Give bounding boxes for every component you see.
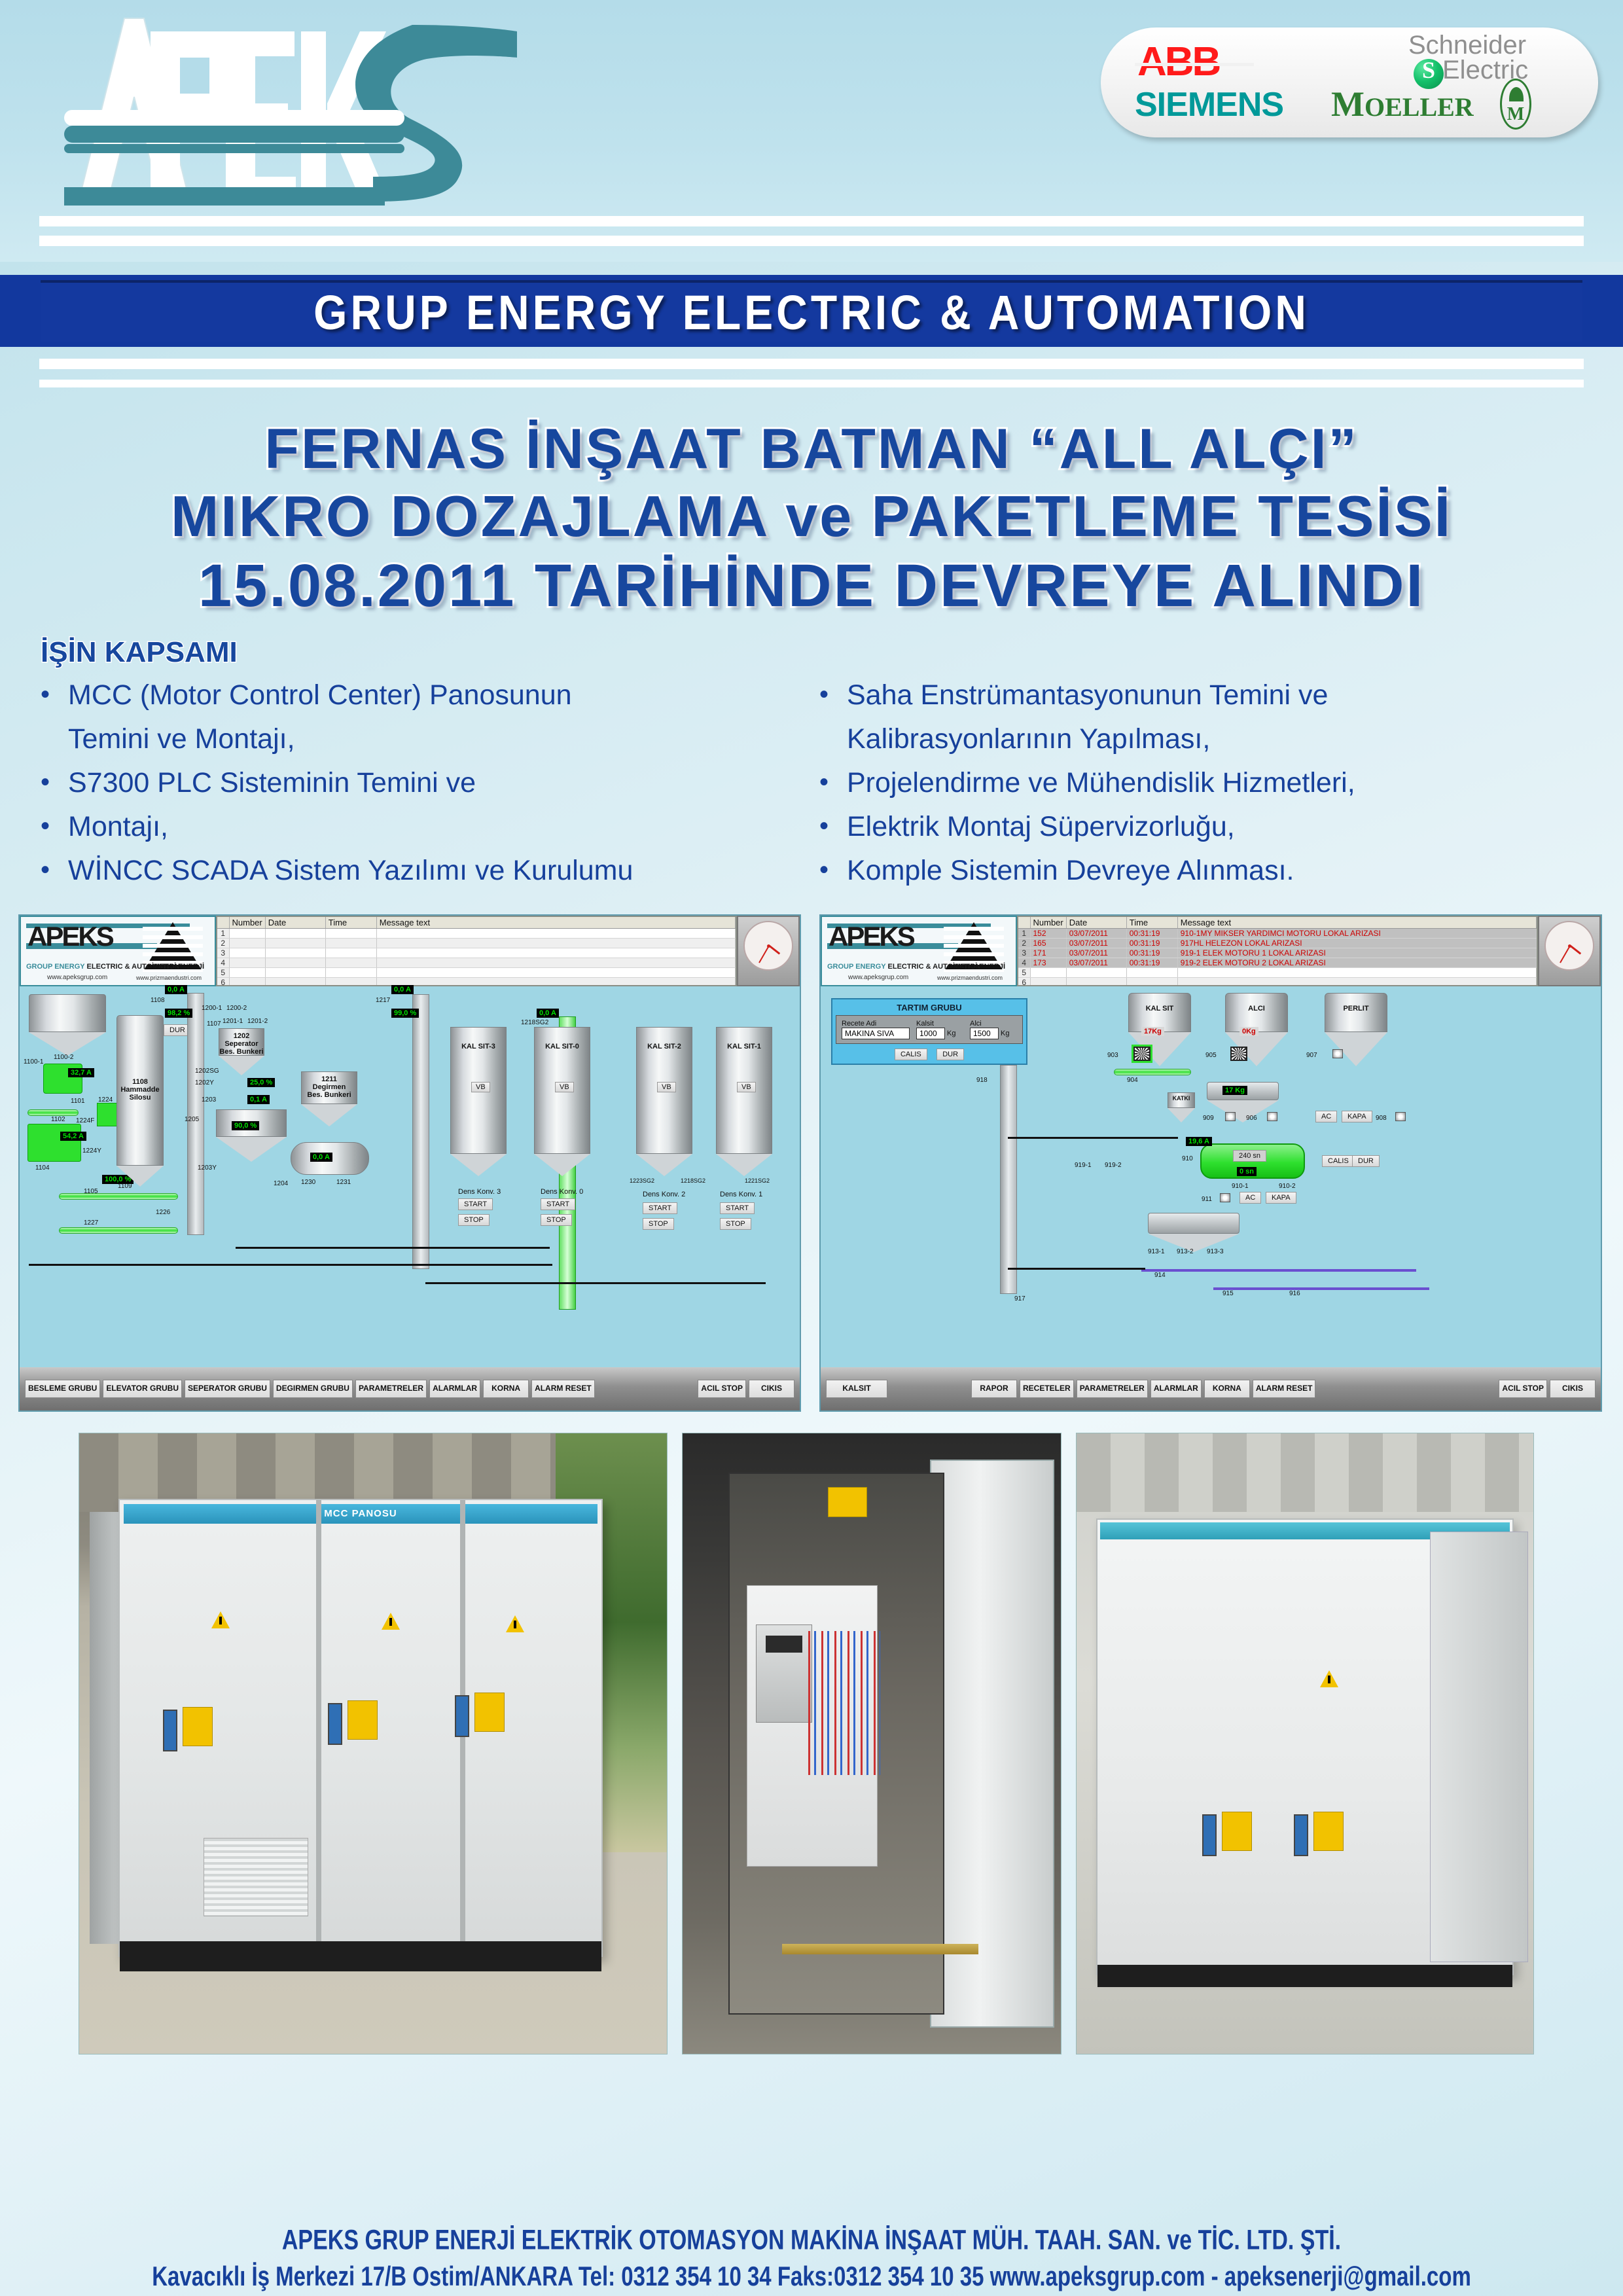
row-index: 3: [1018, 948, 1030, 958]
stop-button-1[interactable]: STOP: [720, 1218, 751, 1230]
scada1-partner-url: www.prizmaendustri.com: [136, 975, 202, 981]
elevator-1214: [412, 994, 429, 1269]
tag-1218SG2: 1218SG2: [681, 1177, 705, 1184]
tag-917: 917: [1014, 1295, 1026, 1302]
warning-label: [348, 1700, 378, 1740]
clock-face: [743, 921, 793, 971]
title-line-2: MIKRO DOZAJLAMA ve PAKETLEME TESİSİ: [0, 482, 1623, 550]
bullet-icon: •: [41, 807, 68, 845]
cell-message: [376, 948, 735, 958]
moeller-logo-rest: OELLER: [1364, 92, 1474, 122]
routing-line: [1008, 1137, 1178, 1139]
row-index: 4: [217, 958, 229, 968]
silo-1108-label: 1108 Hammadde Silosu: [116, 1078, 164, 1102]
bullet-icon: •: [819, 763, 847, 801]
lcd-1108-a: 0,0 A: [165, 985, 187, 994]
cell-message: 917HL HELEZON LOKAL ARIZASI: [1177, 939, 1536, 948]
cell-number: [1030, 978, 1066, 987]
scada2-wordmark: APEKS: [829, 921, 914, 952]
lcd-1214-a: 0,0 A: [391, 985, 414, 994]
door-handle: [1202, 1814, 1217, 1856]
dens-konv-0-label: Dens Konv. 0: [541, 1188, 583, 1196]
row-index: 2: [1018, 939, 1030, 948]
mill-1211-label: 1211 Degirmen Bes. Bunkeri: [301, 1075, 357, 1099]
abb-logo: ABB: [1137, 42, 1219, 82]
cell-date: 03/07/2011: [1066, 939, 1126, 948]
ac-button-top[interactable]: AC: [1315, 1111, 1337, 1122]
screw-conveyor-904: [1114, 1069, 1191, 1075]
recipe-dur-button[interactable]: DUR: [936, 1049, 964, 1060]
silo-katki-cone: [1168, 1108, 1195, 1122]
tag-904: 904: [1127, 1077, 1138, 1084]
button-acil-stop[interactable]: ACIL STOP: [1499, 1380, 1547, 1398]
silo-katki-label: KATKI: [1168, 1095, 1195, 1102]
cabinet-plinth: [1097, 1965, 1512, 1987]
cell-date: [265, 948, 325, 958]
cell-date: [265, 939, 325, 948]
silo-alci-label: ALCI: [1225, 1005, 1288, 1013]
lcd-1214-b: 99,0 %: [391, 1009, 419, 1018]
silo-1108-line2: Hammadde: [120, 1086, 159, 1094]
button-parametreler[interactable]: PARAMETRELER: [355, 1380, 427, 1398]
alarm-col-time: Time: [1126, 917, 1177, 929]
list-item-label: WİNCC SCADA Sistem Yazılımı ve Kurulumu: [68, 851, 806, 891]
header-stripes: [39, 216, 1584, 255]
scada2-toolbar[interactable]: KALSIT RAPOR RECETELER PARAMETRELER ALAR…: [821, 1367, 1601, 1410]
conveyor-1227: [59, 1227, 178, 1234]
recipe-panel[interactable]: TARTIM GRUBU Recete Adi Kalsit Kg: [831, 998, 1027, 1065]
tag-1217: 1218SG2: [521, 1019, 548, 1026]
cell-time: 00:31:19: [1126, 939, 1177, 948]
cell-number: 173: [1030, 958, 1066, 968]
cell-number: [229, 978, 265, 987]
cell-time: 00:31:19: [1126, 958, 1177, 968]
lcd-1217-a: 0,0 A: [537, 1009, 559, 1018]
button-kalsit[interactable]: KALSIT: [826, 1380, 887, 1398]
list-item: Temini ve Montajı,: [41, 719, 806, 759]
table-row[interactable]: 1: [217, 929, 736, 939]
silo-1108-line3: Silosu: [129, 1094, 151, 1102]
cell-message: [1177, 968, 1536, 978]
dens-konv-1-label: Dens Konv. 1: [720, 1191, 762, 1198]
warning-label: [474, 1693, 505, 1732]
list-item: •Montajı,: [41, 807, 806, 847]
valve-911: [1220, 1193, 1230, 1202]
cell-time: [325, 929, 376, 939]
dens-konv-3-label: Dens Konv. 3: [458, 1188, 501, 1196]
table-row[interactable]: 5: [1018, 968, 1537, 978]
cell-date: [265, 958, 325, 968]
table-row[interactable]: 5: [217, 968, 736, 978]
table-row[interactable]: 3: [217, 948, 736, 958]
list-item: •MCC (Motor Control Center) Panosunun: [41, 675, 806, 715]
feed-hopper: [29, 994, 106, 1032]
scada2-clock-icon: [1538, 916, 1601, 986]
button-elevator-grubu[interactable]: ELEVATOR GRUBU: [103, 1380, 182, 1398]
recipe-name-input[interactable]: [842, 1028, 910, 1039]
button-korna[interactable]: KORNA: [1204, 1380, 1250, 1398]
kapa-button-top[interactable]: KAPA: [1342, 1111, 1372, 1122]
button-cikis[interactable]: CIKIS: [1550, 1380, 1596, 1398]
ventilation-grille: [204, 1838, 308, 1916]
scada1-logo: APEKS GROUP ENERGY ELECTRIC & AUTOMATION…: [20, 916, 216, 986]
sep-1202-line3: Bes. Bunkeri: [219, 1048, 263, 1056]
photo-mcc-panel-outdoor: MCC PANOSU: [79, 1433, 668, 2054]
tag-908: 908: [1376, 1115, 1387, 1122]
silo-kalsit-3-label: KAL SIT-3: [450, 1043, 507, 1050]
packing-line-914: [1141, 1269, 1416, 1272]
tag-916: 916: [1289, 1290, 1300, 1297]
tag-915: 915: [1222, 1290, 1234, 1297]
bullet-icon: •: [819, 851, 847, 889]
tag-1227: 1227: [84, 1219, 98, 1227]
tag-1230: 1230: [301, 1179, 315, 1186]
tag-913-2: 913-2: [1177, 1248, 1194, 1255]
row-index: 5: [1018, 968, 1030, 978]
warning-triangle-icon: [506, 1615, 524, 1632]
routing-line: [236, 1247, 550, 1249]
list-item-label: MCC (Motor Control Center) Panosunun: [68, 675, 806, 715]
stop-button-0[interactable]: STOP: [541, 1214, 572, 1226]
recipe-name-label: Recete Adi: [842, 1020, 910, 1028]
tag-1108: 1108: [151, 997, 165, 1004]
cell-time: [325, 968, 376, 978]
tag-1223SG2: 1223SG2: [630, 1177, 654, 1184]
tag-918: 918: [976, 1077, 988, 1084]
mill-1211-line3: Bes. Bunkeri: [307, 1091, 351, 1099]
tag-914: 914: [1154, 1272, 1166, 1279]
row-index: 5: [217, 968, 229, 978]
scada1-alarm-table[interactable]: Number Date Time Message text 1 2 3 4 5 …: [216, 916, 737, 986]
silo-kalsit-1-cone: [716, 1154, 772, 1176]
cell-date: 03/07/2011: [1066, 948, 1126, 958]
banner-title: GRUP ENERGY ELECTRIC & AUTOMATION: [313, 284, 1310, 340]
table-row[interactable]: 4: [217, 958, 736, 968]
tag-1100-2: 1100-2: [54, 1054, 73, 1061]
scope-column-left: •MCC (Motor Control Center) Panosunun Te…: [41, 675, 806, 895]
scada2-header: APEKS GROUP ENERGY ELECTRIC & AUTOMATION…: [821, 916, 1601, 986]
rotary-valve-905: [1230, 1047, 1247, 1061]
siemens-logo: SIEMENS: [1135, 88, 1283, 122]
vb-button-2[interactable]: VB: [657, 1082, 676, 1092]
button-acil-stop[interactable]: ACIL STOP: [698, 1380, 746, 1398]
table-row[interactable]: 216503/07/201100:31:19917HL HELEZON LOKA…: [1018, 939, 1537, 948]
stripe: [39, 380, 1584, 387]
door-handle: [455, 1695, 469, 1737]
list-item-label: Kalibrasyonlarının Yapılması,: [847, 719, 1572, 759]
cell-message: 910-1MY MIKSER YARDIMCI MOTORU LOKAL ARI…: [1177, 929, 1536, 939]
button-alarm-reset[interactable]: ALARM RESET: [531, 1380, 595, 1398]
silo-kalsit-label: KAL SIT: [1128, 1005, 1191, 1013]
scada1-clock-icon: [737, 916, 800, 986]
scope-section: İŞİN KAPSAMI •MCC (Motor Control Center)…: [41, 636, 1623, 895]
side-cabinet: [1430, 1532, 1528, 1962]
abb-logo-stripe: [1135, 63, 1254, 66]
brand-banner: GRUP ENERGY ELECTRIC & AUTOMATION: [0, 263, 1623, 348]
row-index: 2: [217, 939, 229, 948]
weight-kalsit: 17Kg: [1141, 1027, 1164, 1036]
silo-alci: [1225, 993, 1288, 1032]
mill-1211-line2: Degirmen: [313, 1083, 346, 1091]
tag-1109: 1109: [118, 1183, 132, 1190]
clock-hour-hand: [769, 945, 781, 955]
cell-message: [376, 939, 735, 948]
button-receteler[interactable]: RECETELER: [1020, 1380, 1074, 1398]
alci-input[interactable]: [970, 1028, 999, 1039]
table-row[interactable]: 6: [1018, 978, 1537, 987]
button-korna[interactable]: KORNA: [483, 1380, 529, 1398]
cabinet-plinth: [120, 1941, 601, 1971]
table-row[interactable]: 317103/07/201100:31:19919-1 ELEK MOTORU …: [1018, 948, 1537, 958]
valve-907: [1332, 1049, 1343, 1058]
scada-screenshots: APEKS GROUP ENERGY ELECTRIC & AUTOMATION…: [18, 914, 1605, 1412]
warning-triangle-icon: [382, 1613, 400, 1630]
wiring-harness: [808, 1631, 880, 1775]
sep-1202-line2: Seperator: [224, 1040, 258, 1048]
lcd-mill: 0,0 A: [310, 1153, 332, 1162]
list-item-label: Elektrik Montaj Süpervizorluğu,: [847, 807, 1572, 847]
moeller-bell-badge-icon: M: [1500, 79, 1531, 130]
start-button-3[interactable]: START: [458, 1198, 493, 1210]
feed-hopper-cone: [29, 1032, 106, 1056]
valve-909: [1225, 1112, 1236, 1121]
button-seperator-grubu[interactable]: SEPERATOR GRUBU: [185, 1380, 270, 1398]
mill-1104: [27, 1124, 81, 1162]
panel-enclosure: [728, 1473, 944, 2015]
scada1-tagline-a: GROUP ENERGY: [26, 963, 84, 971]
scada-screen-1: APEKS GROUP ENERGY ELECTRIC & AUTOMATION…: [18, 914, 801, 1412]
cell-date: [265, 968, 325, 978]
partner-logo-panel: ABB SIEMENS MOELLER M Schneider Electric: [1101, 27, 1598, 137]
list-item: •Saha Enstrümantasyonunun Temini ve: [819, 675, 1572, 715]
copper-busbar: [782, 1944, 978, 1954]
cell-number: [229, 958, 265, 968]
photo-gallery: MCC PANOSU: [79, 1433, 1544, 2054]
scada1-wordmark: APEKS: [27, 921, 113, 952]
tag-1201-2: 1201-2: [247, 1018, 268, 1025]
list-item-label: Saha Enstrümantasyonunun Temini ve: [847, 675, 1572, 715]
scada2-url: www.apeksgrup.com: [848, 974, 908, 981]
cell-time: [325, 978, 376, 987]
kalsit-input[interactable]: [916, 1028, 945, 1039]
cell-time: 00:31:19: [1126, 929, 1177, 939]
silo-perlit: [1325, 993, 1387, 1032]
scada1-partner: SİMETRİ ENERJİ: [147, 963, 204, 971]
door-handle: [1294, 1814, 1308, 1856]
table-row[interactable]: 6: [217, 978, 736, 987]
button-cikis[interactable]: CIKIS: [749, 1380, 794, 1398]
page-footer: APEKS GRUP ENERJİ ELEKTRİK OTOMASYON MAK…: [0, 2217, 1623, 2296]
recipe-calis-button[interactable]: CALIS: [895, 1049, 927, 1060]
mixer-dur-button[interactable]: DUR: [1352, 1155, 1380, 1167]
mixer-calis-button[interactable]: CALIS: [1322, 1155, 1355, 1167]
ac-button-911[interactable]: AC: [1240, 1192, 1261, 1204]
tag-913-3: 913-3: [1207, 1248, 1224, 1255]
tag-1231: 1231: [336, 1179, 351, 1186]
weight-alci: 0Kg: [1240, 1027, 1258, 1036]
button-alarm-reset[interactable]: ALARM RESET: [1253, 1380, 1316, 1398]
warning-triangle-icon: [211, 1611, 230, 1628]
button-besleme-grubu[interactable]: BESLEME GRUBU: [25, 1380, 100, 1398]
clock-hour-hand: [1570, 945, 1582, 955]
silo-kalsit-1-label: KAL SIT-1: [716, 1043, 772, 1050]
cell-message: [376, 958, 735, 968]
footer-company-name: APEKS GRUP ENERJİ ELEKTRİK OTOMASYON MAK…: [0, 2225, 1623, 2257]
title-line-1: FERNAS İNŞAAT BATMAN “ALL ALÇI”: [0, 416, 1623, 482]
cell-message: 919-2 ELEK MOTORU 2 LOKAL ARIZASI: [1177, 958, 1536, 968]
tag-1214: 1217: [376, 997, 390, 1004]
scada2-alarm-table[interactable]: Number Date Time Message text 115203/07/…: [1017, 916, 1538, 986]
table-row[interactable]: 417303/07/201100:31:19919-2 ELEK MOTORU …: [1018, 958, 1537, 968]
cell-number: [229, 948, 265, 958]
cell-message: [1177, 978, 1536, 987]
button-alarmlar[interactable]: ALARMLAR: [1150, 1380, 1202, 1398]
scada2-tagline-a: GROUP ENERGY: [827, 963, 885, 971]
cell-time: [325, 958, 376, 968]
vb-button-3[interactable]: VB: [471, 1082, 490, 1092]
footer-contact-info: Kavacıklı İş Merkezi 17/B Ostim/ANKARA T…: [0, 2261, 1623, 2292]
open-door: [930, 1460, 1054, 2028]
alarm-col-message: Message text: [1177, 917, 1536, 929]
stop-button-2[interactable]: STOP: [643, 1218, 674, 1230]
tag-910-1: 910-1: [1232, 1183, 1249, 1190]
title-line-3: 15.08.2011 TARİHİNDE DEVREYE ALINDI: [0, 550, 1623, 622]
cell-number: 171: [1030, 948, 1066, 958]
list-item-label: Projelendirme ve Mühendislik Hizmetleri,: [847, 763, 1572, 803]
cell-date: 03/07/2011: [1066, 929, 1126, 939]
cell-number: 165: [1030, 939, 1066, 948]
alarm-col-date: Date: [1066, 917, 1126, 929]
alci-unit: Kg: [1001, 1030, 1009, 1037]
mcc-cabinet: MCC PANOSU: [118, 1499, 603, 1957]
lcd-1202Y: 25,0 %: [247, 1078, 275, 1087]
rotary-valve-903: [1133, 1047, 1150, 1061]
tag-919-1: 919-1: [1075, 1162, 1092, 1169]
stop-button-3[interactable]: STOP: [458, 1214, 490, 1226]
cell-message: [376, 978, 735, 987]
scada1-toolbar[interactable]: BESLEME GRUBU ELEVATOR GRUBU SEPERATOR G…: [20, 1367, 800, 1410]
kalsit-label: Kalsit: [916, 1020, 963, 1028]
tag-1100-1: 1100-1: [24, 1058, 43, 1066]
alarm-col-number: Number: [229, 917, 265, 929]
cell-number: [229, 939, 265, 948]
bullet-icon: •: [41, 851, 68, 889]
silo-kalsit-0-label: KAL SIT-0: [534, 1043, 590, 1050]
schneider-s-icon: [1414, 59, 1444, 89]
list-item: •Elektrik Montaj Süpervizorluğu,: [819, 807, 1572, 847]
tag-1203: 1203: [202, 1096, 216, 1103]
vb-button-1[interactable]: VB: [737, 1082, 756, 1092]
scada1-header: APEKS GROUP ENERGY ELECTRIC & AUTOMATION…: [20, 916, 800, 986]
kalsit-unit: Kg: [947, 1030, 955, 1037]
vb-button-0[interactable]: VB: [555, 1082, 574, 1092]
cell-message: [376, 929, 735, 939]
bullet-icon: •: [41, 675, 68, 713]
warning-label: [828, 1487, 867, 1517]
tag-1107: 1107: [207, 1020, 221, 1028]
banner-inner: GRUP ENERGY ELECTRIC & AUTOMATION: [41, 280, 1582, 342]
row-index: 6: [217, 978, 229, 987]
cell-time: [1126, 978, 1177, 987]
silo-perlit-label: PERLIT: [1325, 1005, 1387, 1013]
scada1-mimic-diagram[interactable]: CALIS DUR 75,0 % 1100-1 1100-2 1101 32,7…: [20, 986, 800, 1366]
list-item: •WİNCC SCADA Sistem Yazılımı ve Kurulumu: [41, 851, 806, 891]
silo-kalsit-2-cone: [636, 1154, 692, 1176]
kapa-button-911[interactable]: KAPA: [1266, 1192, 1296, 1204]
cell-date: [265, 929, 325, 939]
door-handle: [328, 1703, 342, 1745]
scada2-mimic-diagram[interactable]: TARTIM GRUBU Recete Adi Kalsit Kg: [821, 986, 1601, 1366]
list-item-label: S7300 PLC Sisteminin Temini ve: [68, 763, 806, 803]
warning-label: [1222, 1812, 1252, 1851]
start-button-2[interactable]: START: [643, 1202, 677, 1214]
tag-1202Y: 1202Y: [195, 1079, 214, 1086]
separator-1202-label: 1202 Seperator Bes. Bunkeri: [219, 1032, 264, 1056]
vfd-drive: [756, 1624, 812, 1723]
tag-1104: 1104: [35, 1164, 50, 1172]
warning-label: [183, 1707, 213, 1746]
list-item: •Komple Sistemin Devreye Alınması.: [819, 851, 1572, 891]
moeller-logo: MOELLER: [1331, 86, 1474, 122]
button-parametreler[interactable]: PARAMETRELER: [1077, 1380, 1148, 1398]
list-item-label: Komple Sistemin Devreye Alınması.: [847, 851, 1572, 891]
mill-1211-tag: 1211: [321, 1075, 337, 1083]
alarm-col-time: Time: [325, 917, 376, 929]
cell-number: [229, 968, 265, 978]
scada2-logo: APEKS GROUP ENERGY ELECTRIC & AUTOMATION…: [821, 916, 1017, 986]
door-handle: [163, 1710, 177, 1751]
lcd-1203: 0,1 A: [247, 1095, 270, 1104]
sep-1202-tag: 1202: [234, 1032, 249, 1040]
alarm-col-number: Number: [1030, 917, 1066, 929]
alarm-col-message: Message text: [376, 917, 735, 929]
cell-date: [1066, 968, 1126, 978]
warning-label: [1313, 1812, 1344, 1851]
tag-1224F: 1224F: [76, 1117, 94, 1124]
mixer-timer-now: 0 sn: [1237, 1167, 1257, 1176]
button-alarmlar[interactable]: ALARMLAR: [429, 1380, 480, 1398]
table-row[interactable]: 2: [217, 939, 736, 948]
silo-kalsit-2-label: KAL SIT-2: [636, 1043, 692, 1050]
silo-kalsit-3-cone: [450, 1154, 507, 1176]
cell-number: 152: [1030, 929, 1066, 939]
button-degirmen-grubu[interactable]: DEGIRMEN GRUBU: [273, 1380, 353, 1398]
clock-minute-hand: [1560, 946, 1571, 963]
start-button-1[interactable]: START: [720, 1202, 755, 1214]
tag-913-1: 913-1: [1148, 1248, 1165, 1255]
tag-906: 906: [1246, 1115, 1257, 1122]
recipe-panel-title: TARTIM GRUBU: [836, 1003, 1023, 1013]
cabinet-label-band: MCC PANOSU: [124, 1504, 597, 1524]
button-rapor[interactable]: RAPOR: [971, 1380, 1017, 1398]
separator-bunker-cone: [219, 1056, 264, 1075]
apeks-wordmark: [20, 5, 563, 215]
cell-date: [265, 978, 325, 987]
list-item: •S7300 PLC Sisteminin Temini ve: [41, 763, 806, 803]
tag-1203Y: 1203Y: [198, 1164, 217, 1172]
scada1-url: www.apeksgrup.com: [47, 974, 107, 981]
tag-905: 905: [1205, 1052, 1217, 1059]
separator-cone: [216, 1137, 287, 1162]
table-row[interactable]: 115203/07/201100:31:19910-1MY MIKSER YAR…: [1018, 929, 1537, 939]
tag-910-2: 910-2: [1279, 1183, 1296, 1190]
alarm-col-date: Date: [265, 917, 325, 929]
clock-minute-hand: [758, 946, 770, 963]
row-index: 4: [1018, 958, 1030, 968]
start-button-0[interactable]: START: [541, 1198, 575, 1210]
recipe-fields: Recete Adi Kalsit Kg Alci: [836, 1015, 1023, 1044]
stripe: [39, 359, 1584, 369]
